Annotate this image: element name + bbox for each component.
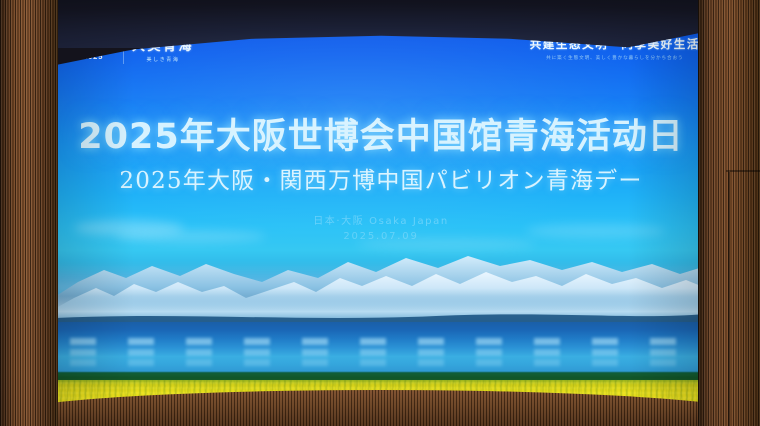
event-title-japanese: 2025年大阪・関西万博中国パビリオン青海デー xyxy=(56,161,706,195)
event-date: 2025.07.09 xyxy=(56,231,706,242)
qinghai-brand-japanese: 美しき青海 xyxy=(132,56,194,63)
stage-photo: CHINA PAVILION 2025 大美青海 美しき青海 共建生态文明 同享… xyxy=(0,0,760,426)
event-location: 日本·大阪 Osaka Japan xyxy=(56,212,706,227)
cp-line-3: 2025 xyxy=(83,53,125,61)
led-screen: CHINA PAVILION 2025 大美青海 美しき青海 共建生态文明 同享… xyxy=(56,24,706,414)
wood-wall-left xyxy=(0,0,58,426)
qinghai-lake xyxy=(56,322,706,376)
eco-slogan-japanese: 共に築く生態文明、美しく豊かな暮らしを分かち合おう xyxy=(530,55,700,61)
wood-wall-seam-vertical xyxy=(728,172,730,426)
event-title-chinese: 2025年大阪世博会中国馆青海活动日 xyxy=(56,108,706,159)
wood-wall-seam-horizontal xyxy=(726,170,760,172)
